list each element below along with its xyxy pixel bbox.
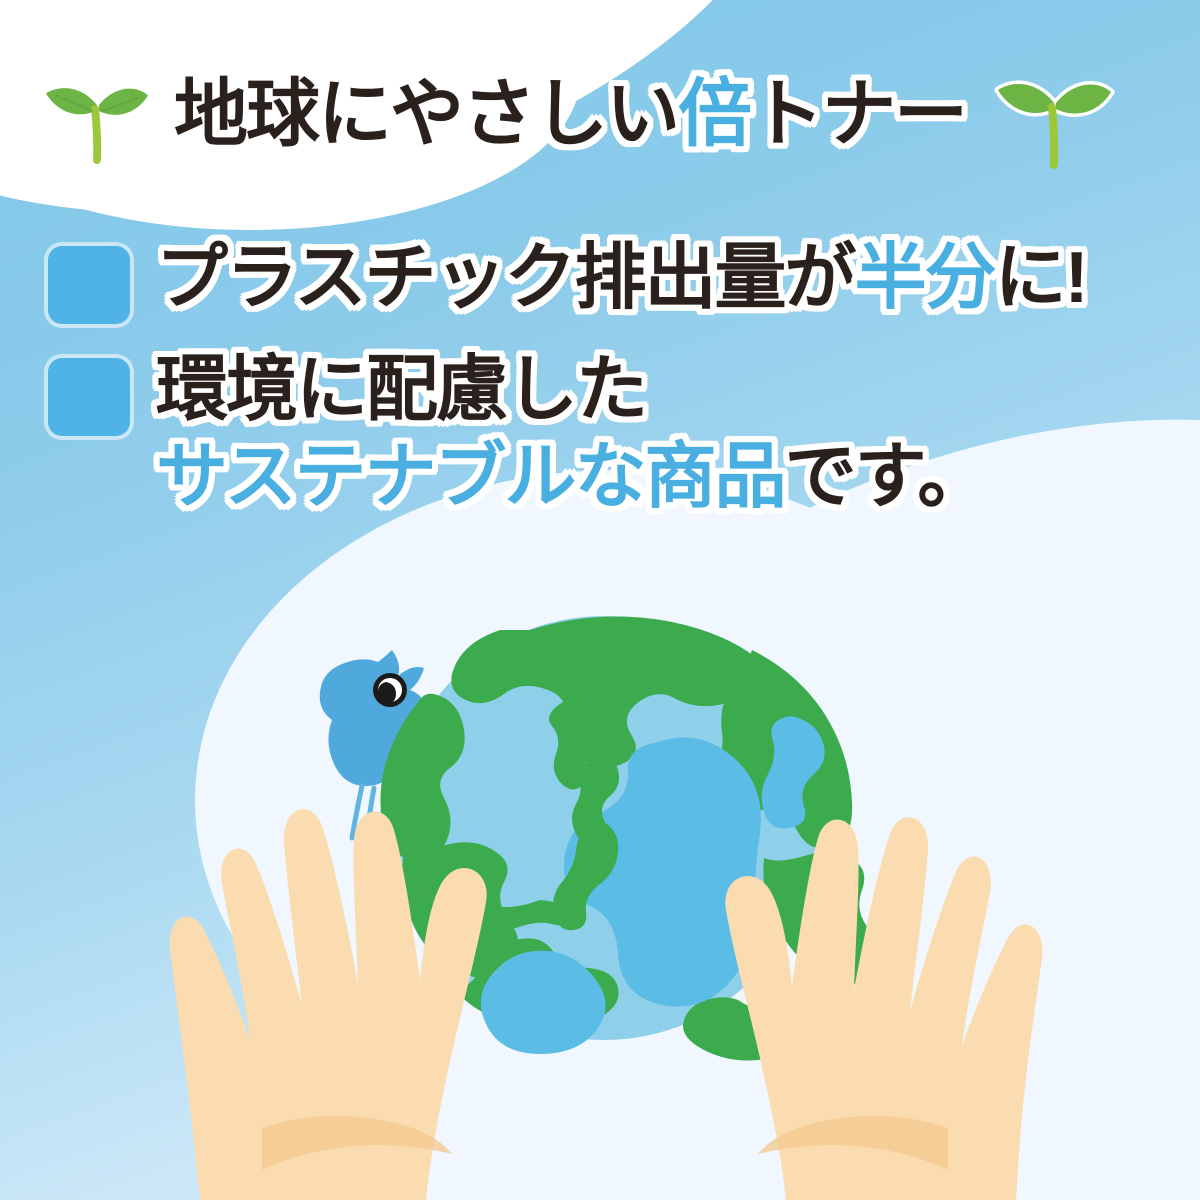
title-part-3: トナー bbox=[750, 72, 966, 155]
poster-canvas: 地球にやさしい倍トナー プラスチック排出量が半分に! 環境に配慮した サ bbox=[0, 0, 1200, 1200]
bullet-2-line-1: 環境に配慮した bbox=[156, 344, 987, 438]
sprout-icon bbox=[986, 55, 1118, 173]
b1-p2-accent: 半分 bbox=[855, 238, 995, 318]
bullet-2-text: 環境に配慮した サステナブルな商品です。 bbox=[156, 344, 987, 525]
title-part-1: 地球にやさしい bbox=[174, 72, 678, 155]
bullet-1-text: プラスチック排出量が半分に! bbox=[156, 232, 1087, 326]
list-item: プラスチック排出量が半分に! bbox=[0, 232, 1200, 326]
b2-p1-accent: サステナブルな商品 bbox=[156, 437, 785, 517]
earth-and-hands-illustration bbox=[0, 0, 1200, 1200]
bullet-2-line-2: サステナブルな商品です。 bbox=[156, 431, 987, 525]
header: 地球にやさしい倍トナー bbox=[0, 58, 1200, 170]
b1-p1: プラスチック排出量が bbox=[156, 238, 855, 318]
b1-p3: に! bbox=[995, 238, 1087, 318]
b2-p2: です。 bbox=[785, 437, 988, 517]
title-part-accent: 倍 bbox=[678, 72, 750, 155]
bullet-1-line-1: プラスチック排出量が半分に! bbox=[156, 232, 1087, 326]
sprout-icon bbox=[36, 62, 154, 166]
feature-list: プラスチック排出量が半分に! 環境に配慮した サステナブルな商品です。 bbox=[0, 232, 1200, 543]
list-item: 環境に配慮した サステナブルな商品です。 bbox=[0, 344, 1200, 525]
page-title: 地球にやさしい倍トナー bbox=[174, 77, 966, 151]
square-bullet-icon bbox=[48, 246, 130, 324]
square-bullet-icon bbox=[48, 358, 130, 436]
